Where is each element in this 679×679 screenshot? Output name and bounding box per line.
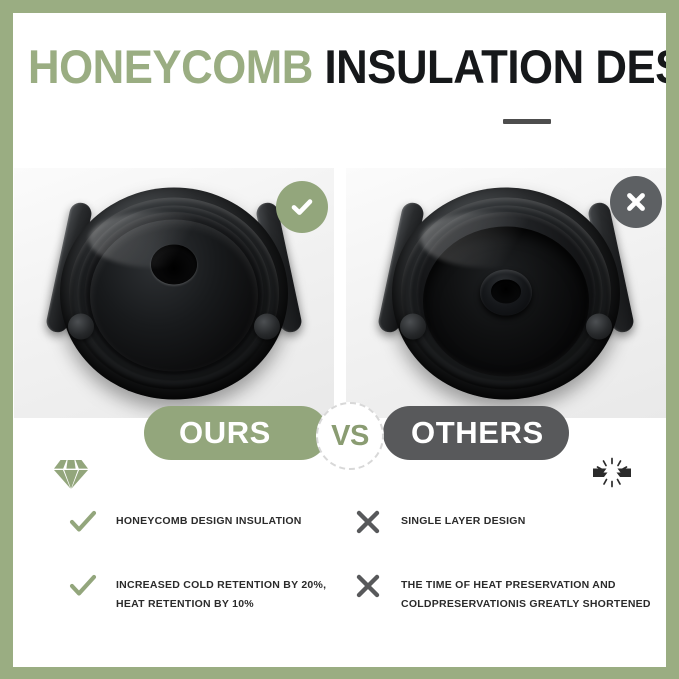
title-rest: INSULATION DESIGN bbox=[313, 40, 666, 93]
bowl-center-knob bbox=[480, 270, 532, 316]
pot-ours bbox=[56, 186, 292, 401]
feature-item: INCREASED COLD RETENTION BY 20%, HEAT RE… bbox=[68, 571, 326, 615]
feature-text: HONEYCOMB DESIGN INSULATION bbox=[116, 507, 302, 531]
others-label: OTHERS bbox=[411, 415, 544, 451]
others-pill: OTHERS bbox=[383, 406, 569, 460]
diamond-icon bbox=[52, 457, 90, 496]
feature-item: SINGLE LAYER DESIGN bbox=[353, 507, 526, 537]
feature-item: HONEYCOMB DESIGN INSULATION bbox=[68, 507, 302, 537]
feature-text: THE TIME OF HEAT PRESERVATION AND COLDPR… bbox=[401, 571, 651, 615]
poster-frame: HONEYCOMB INSULATION DESIGN bbox=[0, 0, 679, 679]
hinge-left bbox=[68, 314, 94, 340]
broken-bar-icon bbox=[591, 457, 633, 496]
check-icon bbox=[68, 507, 98, 537]
feature-item: THE TIME OF HEAT PRESERVATION AND COLDPR… bbox=[353, 571, 651, 615]
hinge-left bbox=[400, 314, 426, 340]
page-title: HONEYCOMB INSULATION DESIGN bbox=[28, 43, 623, 90]
check-icon bbox=[68, 571, 98, 601]
cross-icon bbox=[622, 188, 650, 216]
hinge-right bbox=[254, 314, 280, 340]
pot-others bbox=[388, 186, 624, 401]
versus-circle: VS bbox=[316, 402, 384, 470]
feature-text: SINGLE LAYER DESIGN bbox=[401, 507, 526, 531]
rim-highlight bbox=[89, 211, 221, 267]
check-badge-ours bbox=[276, 181, 328, 233]
dash-rule-divider bbox=[503, 119, 551, 124]
cross-badge-others bbox=[610, 176, 662, 228]
ours-pill: OURS bbox=[144, 406, 328, 460]
versus-label: VS bbox=[331, 420, 369, 453]
hinge-right bbox=[586, 314, 612, 340]
rim-highlight bbox=[421, 211, 553, 267]
feature-rows: HONEYCOMB DESIGN INSULATION INCREASED CO… bbox=[13, 493, 666, 643]
feature-text: INCREASED COLD RETENTION BY 20%, HEAT RE… bbox=[116, 571, 326, 615]
ours-label: OURS bbox=[179, 415, 271, 451]
cross-icon bbox=[353, 571, 383, 601]
title-highlight: HONEYCOMB bbox=[28, 40, 313, 93]
cross-icon bbox=[353, 507, 383, 537]
check-icon bbox=[287, 192, 317, 222]
product-photo-row bbox=[14, 168, 666, 418]
poster-canvas: HONEYCOMB INSULATION DESIGN bbox=[13, 13, 666, 667]
comparison-band: OURS OTHERS VS bbox=[13, 406, 666, 468]
